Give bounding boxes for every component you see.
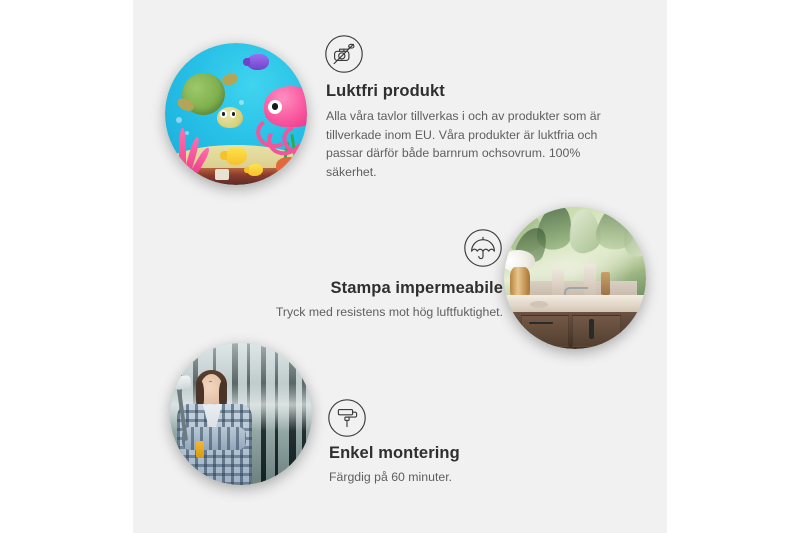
page-canvas: Luktfri produkt Alla våra tavlor tillver… bbox=[0, 0, 800, 533]
paint-roller-icon bbox=[327, 398, 367, 438]
feature-block-odourless: Luktfri produkt Alla våra tavlor tillver… bbox=[326, 34, 626, 182]
feature-body: Tryck med resistens mot hög luftfuktighe… bbox=[193, 303, 503, 322]
crab-icon bbox=[276, 157, 302, 174]
soap-dish-icon bbox=[530, 301, 548, 308]
bottle-icon bbox=[552, 269, 563, 295]
no-fragrance-icon bbox=[324, 34, 364, 74]
feature-panel: Luktfri produkt Alla våra tavlor tillver… bbox=[133, 0, 667, 533]
vanity-cabinet bbox=[513, 312, 646, 349]
bottle-icon bbox=[601, 272, 611, 295]
tool-icon bbox=[196, 441, 203, 459]
feature-body: Färgdig på 60 minuter. bbox=[329, 468, 619, 487]
feature-image-waterproof bbox=[504, 207, 646, 349]
umbrella-icon bbox=[463, 228, 503, 268]
feature-body: Alla våra tavlor tillverkas i och av pro… bbox=[326, 107, 626, 182]
turtle-icon bbox=[179, 73, 244, 130]
feature-title: Stampa impermeabile bbox=[193, 279, 503, 298]
feature-image-assembly bbox=[170, 343, 312, 485]
feature-block-assembly: Enkel montering Färgdig på 60 minuter. bbox=[329, 398, 619, 487]
octopus-icon bbox=[253, 86, 307, 151]
feature-image-odourless bbox=[165, 43, 307, 185]
feature-title: Enkel montering bbox=[329, 444, 619, 463]
feature-block-waterproof: Stampa impermeabile Tryck med resistens … bbox=[193, 228, 503, 322]
fish-icon bbox=[247, 54, 268, 70]
feature-title: Luktfri produkt bbox=[326, 82, 626, 101]
coral-icon bbox=[168, 128, 211, 173]
person-figure bbox=[176, 374, 256, 485]
